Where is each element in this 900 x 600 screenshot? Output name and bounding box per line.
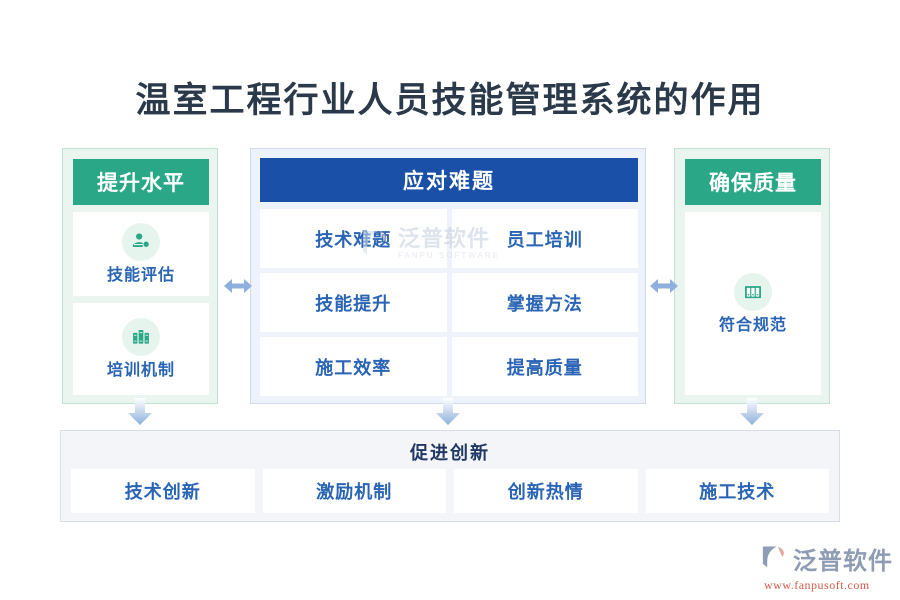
bottom-cell-grid: 技术创新 激励机制 创新热情 施工技术: [71, 469, 829, 513]
center-cell[interactable]: 技术难题: [260, 209, 447, 268]
cell-compliance-standards[interactable]: 符合规范: [685, 212, 821, 395]
books-icon: [122, 318, 160, 356]
double-arrow-icon: [650, 276, 678, 296]
double-arrow-icon: [224, 276, 252, 296]
center-cell[interactable]: 提高质量: [452, 337, 639, 396]
arrow-down-icon: [435, 398, 461, 426]
bottom-cell[interactable]: 激励机制: [263, 469, 447, 513]
center-cell[interactable]: 员工培训: [452, 209, 639, 268]
cell-skill-assessment[interactable]: 技能评估: [73, 212, 209, 296]
panel-header-tackle-challenges: 应对难题: [260, 158, 638, 202]
panel-ensure-quality: 确保质量 符合规范: [674, 148, 830, 404]
cell-label: 技能评估: [107, 267, 175, 285]
bottom-cell[interactable]: 创新热情: [454, 469, 638, 513]
archive-files-icon: [734, 273, 772, 311]
bottom-cell[interactable]: 施工技术: [646, 469, 830, 513]
panel-promote-innovation: 促进创新 技术创新 激励机制 创新热情 施工技术: [60, 430, 840, 522]
center-cell[interactable]: 掌握方法: [452, 273, 639, 332]
bottom-panel-title: 促进创新: [61, 439, 839, 465]
arrow-down-icon: [739, 398, 765, 426]
bottom-cell[interactable]: 技术创新: [71, 469, 255, 513]
panel-header-ensure-quality: 确保质量: [685, 159, 821, 205]
user-skill-icon: [122, 223, 160, 261]
brand-logo: 泛普软件 www.fanpusoft.com: [760, 541, 893, 593]
diagram-canvas: 提升水平 技能评估: [0, 0, 900, 600]
center-cell[interactable]: 施工效率: [260, 337, 447, 396]
cell-label: 培训机制: [107, 362, 175, 380]
panel-tackle-challenges: 应对难题 技术难题 员工培训 技能提升 掌握方法 施工效率 提高质量: [250, 148, 646, 404]
panel-improve-level: 提升水平 技能评估: [62, 148, 218, 404]
arrow-down-icon: [127, 398, 153, 426]
logo-company-name: 泛普软件: [793, 541, 893, 576]
cell-training-mechanism[interactable]: 培训机制: [73, 303, 209, 395]
logo-row: 泛普软件: [760, 541, 893, 576]
logo-website-url: www.fanpusoft.com: [764, 578, 870, 593]
cell-label: 符合规范: [719, 317, 787, 335]
center-cell-grid: 技术难题 员工培训 技能提升 掌握方法 施工效率 提高质量: [260, 209, 638, 396]
fanpu-logo-icon: [760, 543, 790, 574]
center-cell[interactable]: 技能提升: [260, 273, 447, 332]
panel-header-improve-level: 提升水平: [73, 159, 209, 205]
